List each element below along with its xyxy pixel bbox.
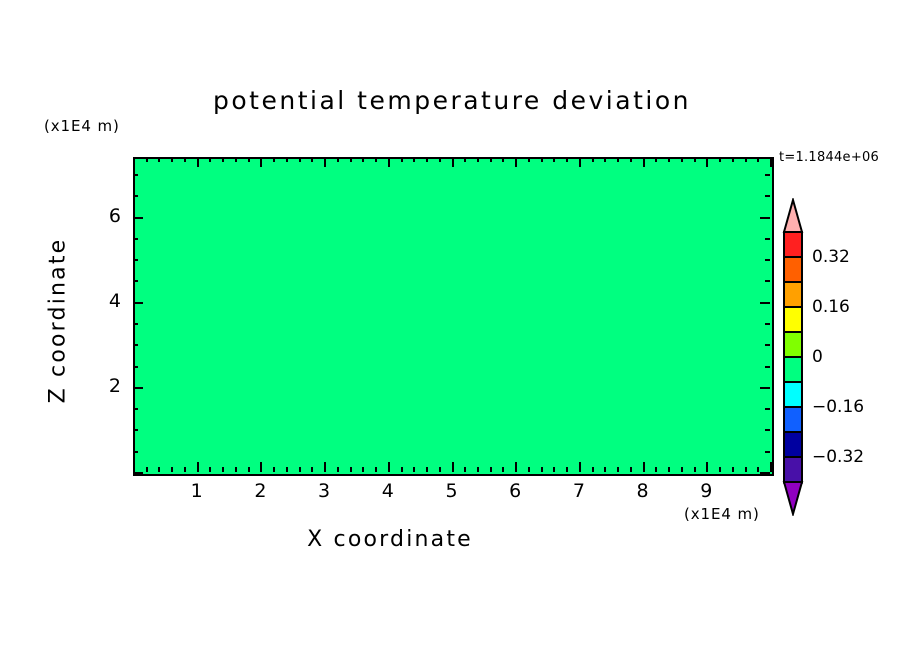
axis-tick: [765, 451, 770, 453]
colorbar-label: 0: [812, 347, 823, 367]
axis-tick: [464, 157, 466, 162]
axis-tick: [566, 157, 568, 162]
colorbar-band: [784, 407, 802, 433]
axis-tick: [452, 462, 454, 472]
axis-tick: [452, 157, 454, 167]
axis-tick: [439, 467, 441, 472]
x-tick-label: 1: [177, 480, 217, 502]
axis-tick: [273, 157, 275, 162]
axis-tick: [350, 157, 352, 162]
axis-tick: [732, 467, 734, 472]
axis-tick: [299, 157, 301, 162]
x-tick-label: 4: [368, 480, 408, 502]
axis-tick: [502, 467, 504, 472]
axis-tick: [311, 157, 313, 162]
axis-tick: [694, 157, 696, 162]
axis-tick: [133, 217, 143, 219]
axis-tick: [273, 467, 275, 472]
colorbar-band: [784, 307, 802, 333]
axis-tick: [515, 462, 517, 472]
colorbar-band: [784, 432, 802, 458]
x-tick-label: 2: [240, 480, 280, 502]
axis-tick: [528, 157, 530, 162]
y-axis-title: Z coordinate: [46, 211, 71, 431]
axis-tick: [413, 467, 415, 472]
axis-tick: [515, 157, 517, 167]
axis-tick: [133, 157, 135, 167]
axis-tick: [643, 157, 645, 167]
axis-tick: [171, 467, 173, 472]
axis-tick: [668, 467, 670, 472]
axis-tick: [719, 467, 721, 472]
axis-tick: [401, 467, 403, 472]
x-tick-label: 3: [304, 480, 344, 502]
axis-tick: [133, 238, 138, 240]
colorbar-band: [784, 457, 802, 483]
axis-tick: [719, 157, 721, 162]
axis-tick: [158, 157, 160, 162]
axis-tick: [350, 467, 352, 472]
axis-tick: [248, 467, 250, 472]
axis-tick: [745, 467, 747, 472]
axis-tick: [133, 344, 138, 346]
axis-tick: [133, 280, 138, 282]
axis-tick: [553, 157, 555, 162]
axis-tick: [770, 462, 772, 472]
colorbar-label: −0.16: [812, 397, 864, 417]
axis-tick: [770, 157, 772, 167]
axis-tick: [655, 157, 657, 162]
axis-tick: [184, 467, 186, 472]
axis-tick: [337, 467, 339, 472]
axis-tick: [706, 462, 708, 472]
axis-tick: [197, 157, 199, 167]
axis-tick: [765, 344, 770, 346]
axis-tick: [439, 157, 441, 162]
colorbar-label: −0.32: [812, 447, 864, 467]
colorbar-cap-low: [784, 482, 802, 514]
page-title: potential temperature deviation: [0, 86, 904, 115]
x-tick-label: 8: [623, 480, 663, 502]
axis-tick: [413, 157, 415, 162]
axis-tick: [324, 157, 326, 167]
axis-tick: [146, 157, 148, 162]
axis-tick: [502, 157, 504, 162]
colorbar-band: [784, 382, 802, 408]
axis-tick: [337, 157, 339, 162]
timestamp-label: t=1.1844e+06: [779, 150, 879, 165]
axis-tick: [668, 157, 670, 162]
axis-tick: [706, 157, 708, 167]
axis-tick: [184, 157, 186, 162]
axis-tick: [617, 467, 619, 472]
axis-tick: [681, 157, 683, 162]
contour-plot-area: [133, 157, 774, 476]
axis-tick: [133, 451, 138, 453]
colorbar: [782, 198, 804, 516]
axis-tick: [222, 467, 224, 472]
axis-tick: [401, 157, 403, 162]
axis-tick: [765, 323, 770, 325]
axis-tick: [133, 323, 138, 325]
axis-tick: [197, 462, 199, 472]
axis-tick: [362, 157, 364, 162]
axis-tick: [579, 462, 581, 472]
axis-tick: [760, 472, 770, 474]
axis-tick: [643, 462, 645, 472]
axis-tick: [248, 157, 250, 162]
axis-tick: [541, 467, 543, 472]
axis-tick: [694, 467, 696, 472]
colorbar-swatches: [782, 198, 804, 516]
axis-tick: [745, 157, 747, 162]
y-tick-label: 6: [81, 205, 121, 227]
axis-tick: [630, 467, 632, 472]
axis-tick: [324, 462, 326, 472]
axis-tick: [464, 467, 466, 472]
axis-tick: [490, 467, 492, 472]
axis-tick: [757, 157, 759, 162]
colorbar-cap-high: [784, 200, 802, 232]
axis-tick: [760, 217, 770, 219]
axis-tick: [133, 302, 143, 304]
x-axis-title: X coordinate: [0, 527, 780, 552]
axis-tick: [765, 174, 770, 176]
axis-tick: [760, 302, 770, 304]
axis-tick: [209, 467, 211, 472]
axis-tick: [604, 467, 606, 472]
axis-tick: [133, 195, 138, 197]
axis-tick: [133, 462, 135, 472]
axis-tick: [158, 467, 160, 472]
axis-tick: [477, 467, 479, 472]
axis-tick: [528, 467, 530, 472]
axis-tick: [133, 387, 143, 389]
y-tick-label: 4: [81, 290, 121, 312]
axis-tick: [630, 157, 632, 162]
axis-tick: [765, 238, 770, 240]
axis-tick: [765, 195, 770, 197]
axis-tick: [592, 157, 594, 162]
axis-tick: [286, 157, 288, 162]
axis-tick: [388, 157, 390, 167]
axis-tick: [604, 157, 606, 162]
axis-tick: [133, 408, 138, 410]
axis-tick: [541, 157, 543, 162]
axis-tick: [388, 462, 390, 472]
x-axis-unit-label: (x1E4 m): [684, 505, 760, 523]
colorbar-band: [784, 257, 802, 283]
axis-tick: [566, 467, 568, 472]
axis-tick: [146, 467, 148, 472]
axis-tick: [760, 387, 770, 389]
axis-tick: [133, 472, 143, 474]
axis-tick: [133, 259, 138, 261]
axis-tick: [299, 467, 301, 472]
axis-tick: [375, 467, 377, 472]
axis-tick: [311, 467, 313, 472]
axis-tick: [362, 467, 364, 472]
axis-tick: [426, 467, 428, 472]
x-tick-label: 9: [686, 480, 726, 502]
axis-tick: [765, 408, 770, 410]
axis-tick: [490, 157, 492, 162]
axis-tick: [171, 157, 173, 162]
colorbar-band: [784, 232, 802, 258]
axis-tick: [765, 280, 770, 282]
axis-tick: [553, 467, 555, 472]
axis-tick: [765, 259, 770, 261]
x-tick-label: 5: [432, 480, 472, 502]
axis-tick: [133, 174, 138, 176]
axis-tick: [133, 429, 138, 431]
colorbar-band: [784, 282, 802, 308]
axis-tick: [133, 366, 138, 368]
axis-tick: [477, 157, 479, 162]
axis-tick: [757, 467, 759, 472]
colorbar-label: 0.16: [812, 297, 850, 317]
axis-tick: [235, 467, 237, 472]
axis-tick: [732, 157, 734, 162]
y-tick-label: 2: [81, 375, 121, 397]
axis-tick: [655, 467, 657, 472]
colorbar-label: 0.32: [812, 247, 850, 267]
axis-tick: [617, 157, 619, 162]
axis-tick: [222, 157, 224, 162]
axis-tick: [209, 157, 211, 162]
axis-tick: [260, 157, 262, 167]
axis-tick: [235, 157, 237, 162]
axis-tick: [592, 467, 594, 472]
contour-field: [135, 159, 772, 474]
axis-tick: [286, 467, 288, 472]
colorbar-band: [784, 332, 802, 358]
y-axis-unit-label: (x1E4 m): [44, 117, 120, 135]
axis-tick: [681, 467, 683, 472]
x-tick-label: 7: [559, 480, 599, 502]
axis-tick: [426, 157, 428, 162]
axis-tick: [375, 157, 377, 162]
axis-tick: [579, 157, 581, 167]
colorbar-band: [784, 357, 802, 383]
axis-tick: [260, 462, 262, 472]
x-tick-label: 6: [495, 480, 535, 502]
axis-tick: [765, 366, 770, 368]
axis-tick: [765, 429, 770, 431]
